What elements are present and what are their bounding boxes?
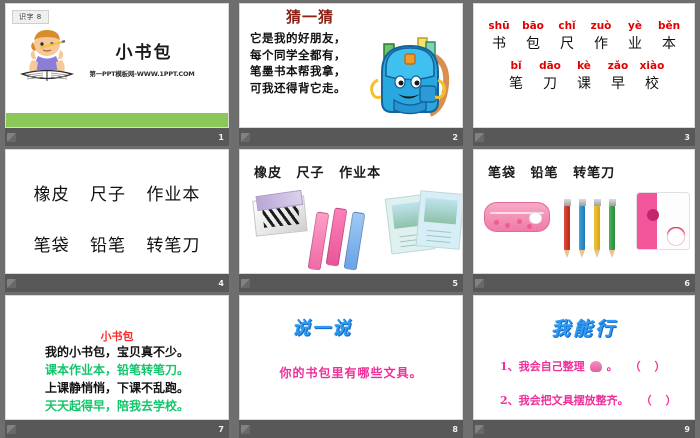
page-title: 小书包 xyxy=(6,38,228,63)
pencil-item xyxy=(579,206,585,250)
poem-title: 小书包 xyxy=(6,328,228,344)
slide-canvas-9[interactable]: 我能行 1、我会自己整理 。 （ ） 2、我会把文具摆放整齐。 （ ） xyxy=(473,295,695,420)
sharpener-crank xyxy=(647,209,659,221)
ruler-item xyxy=(344,211,366,270)
thumbnail-footer-4: 4 xyxy=(5,274,229,292)
pencil-case-photo xyxy=(484,202,550,232)
slide-canvas-8[interactable]: 说一说 你的书包里有哪些文具。 xyxy=(239,295,463,420)
slide-thumbnail-grid: 识字 8 xyxy=(0,0,700,438)
pencil-sharpener-photo xyxy=(636,192,690,250)
thumbnail-footer-7: 7 xyxy=(5,420,229,438)
case-pattern-dot xyxy=(517,219,522,224)
backpack-mini-icon xyxy=(590,361,602,372)
slide-canvas-1[interactable]: 识字 8 xyxy=(5,3,229,128)
slide-thumbnail-6[interactable]: 笔袋 铅笔 转笔刀 xyxy=(468,146,700,292)
word: 铅笔 xyxy=(90,236,126,256)
word: 橡皮 xyxy=(34,185,70,205)
hanzi-cell: 本 xyxy=(652,33,686,53)
hanzi-cell: 书 xyxy=(482,33,516,53)
thumbnail-footer-9: 9 xyxy=(473,420,695,438)
word: 转笔刀 xyxy=(146,236,200,256)
activity-question: 你的书包里有哪些文具。 xyxy=(240,364,462,381)
hanzi-cell: 尺 xyxy=(550,33,584,53)
slide-number: 6 xyxy=(684,279,690,288)
pencil-tip xyxy=(564,250,570,258)
slide-thumbnail-2[interactable]: 猜一猜 它是我的好朋友， 每个同学全都有， 笔墨书本帮我拿， 可我还得背它走。 xyxy=(234,0,468,146)
poem-line: 天天起得早，陪我去学校。 xyxy=(45,398,189,414)
riddle-line: 它是我的好朋友， xyxy=(250,30,346,47)
workbook-item xyxy=(416,190,463,250)
case-pattern-dot xyxy=(505,223,510,228)
slide-number: 5 xyxy=(452,279,458,288)
vocabulary-list: 橡皮 尺子 作业本 笔袋 铅笔 转笔刀 xyxy=(6,180,228,256)
word: 橡皮 xyxy=(254,166,282,181)
word-line-2: 笔袋 铅笔 转笔刀 xyxy=(27,231,208,256)
checklist-suffix: 。 xyxy=(607,358,618,374)
riddle-line: 笔墨书本帮我拿， xyxy=(250,63,346,80)
hanzi-cell: 业 xyxy=(618,33,652,53)
word: 尺子 xyxy=(90,185,126,205)
pinyin-cell: bǐ xyxy=(499,60,533,72)
word: 铅笔 xyxy=(531,166,559,181)
pencils-photo xyxy=(564,206,570,250)
hanzi-cell: 包 xyxy=(516,33,550,53)
poem-line: 课本作业本，铅笔转笔刀。 xyxy=(45,362,189,378)
poem-line: 上课静悄悄，下课不乱跑。 xyxy=(45,380,189,396)
slide-thumbnail-icon xyxy=(7,425,16,434)
pinyin-row-1: shū bāo chǐ zuò yè běn xyxy=(474,20,694,32)
slide-number: 7 xyxy=(218,425,224,434)
row-spacer xyxy=(474,54,694,59)
activity-heading: 我能行 xyxy=(474,314,694,341)
pinyin-cell: xiào xyxy=(635,60,669,72)
slide-heading: 笔袋 铅笔 转笔刀 xyxy=(488,162,624,181)
slide-number: 9 xyxy=(684,425,690,434)
slide-thumbnail-icon xyxy=(241,279,250,288)
guess-heading: 猜一猜 xyxy=(286,6,334,27)
hanzi-cell: 课 xyxy=(567,73,601,93)
case-pattern-dot xyxy=(494,220,499,225)
slide-number: 4 xyxy=(218,279,224,288)
book-cover-art xyxy=(424,198,458,225)
pencil-tip xyxy=(579,250,585,258)
slide-number: 8 xyxy=(452,425,458,434)
blue-backpack-icon xyxy=(364,24,456,124)
slide-thumbnail-icon xyxy=(475,279,484,288)
thumbnail-footer-8: 8 xyxy=(239,420,463,438)
pencil-cap xyxy=(579,199,586,206)
pinyin-cell: běn xyxy=(652,20,686,32)
hanzi-cell: 笔 xyxy=(499,73,533,93)
book-line xyxy=(427,230,451,233)
eraser-photo xyxy=(252,195,307,236)
pinyin-cell: yè xyxy=(618,20,652,32)
case-pattern-dot xyxy=(527,224,532,229)
slide-thumbnail-icon xyxy=(475,425,484,434)
checklist-item: 2、我会把文具摆放整齐。 （ ） xyxy=(500,392,684,408)
slide-thumbnail-3[interactable]: shū bāo chǐ zuò yè běn 书 包 尺 作 业 本 xyxy=(468,0,700,146)
poem-body: 我的小书包，宝贝真不少。 课本作业本，铅笔转笔刀。 上课静悄悄，下课不乱跑。 天… xyxy=(6,344,228,414)
hanzi-row-2: 笔 刀 课 早 校 xyxy=(474,73,694,93)
slide-thumbnail-icon xyxy=(7,279,16,288)
green-accent-bar xyxy=(6,113,228,127)
checklist-box: （ ） xyxy=(630,358,671,374)
hello-kitty-icon xyxy=(529,212,542,224)
pinyin-chart: shū bāo chǐ zuò yè běn 书 包 尺 作 业 本 xyxy=(474,20,694,93)
pinyin-cell: zǎo xyxy=(601,60,635,72)
hanzi-cell: 校 xyxy=(635,73,669,93)
riddle-line: 可我还得背它走。 xyxy=(250,80,346,97)
slide-canvas-6[interactable]: 笔袋 铅笔 转笔刀 xyxy=(473,149,695,274)
pinyin-cell: zuò xyxy=(584,20,618,32)
slide-thumbnail-icon xyxy=(241,133,250,142)
slide-thumbnail-icon xyxy=(475,133,484,142)
pinyin-cell: dāo xyxy=(533,60,567,72)
pencil-tip xyxy=(609,250,615,258)
pencil-cap xyxy=(594,199,601,206)
hanzi-row-1: 书 包 尺 作 业 本 xyxy=(474,33,694,53)
pinyin-cell: kè xyxy=(567,60,601,72)
checklist-text: 2、我会把文具摆放整齐。 xyxy=(500,392,629,408)
checklist: 1、我会自己整理 。 （ ） 2、我会把文具摆放整齐。 （ ） xyxy=(500,358,684,408)
hanzi-cell: 刀 xyxy=(533,73,567,93)
slide-thumbnail-icon xyxy=(241,425,250,434)
pencil-cap xyxy=(564,199,571,206)
mascot-face xyxy=(667,228,685,246)
checklist-text: 1、我会自己整理 xyxy=(500,358,585,374)
watermark-text: 第一PPT模板网-WWW.1PPT.COM xyxy=(6,68,228,78)
hanzi-cell: 早 xyxy=(601,73,635,93)
slide-canvas-3[interactable]: shū bāo chǐ zuò yè běn 书 包 尺 作 业 本 xyxy=(473,3,695,128)
riddle-line: 每个同学全都有， xyxy=(250,47,346,64)
book-line xyxy=(427,235,451,238)
thumbnail-footer-5: 5 xyxy=(239,274,463,292)
slide-canvas-7[interactable]: 小书包 我的小书包，宝贝真不少。 课本作业本，铅笔转笔刀。 上课静悄悄，下课不乱… xyxy=(5,295,229,420)
thumbnail-footer-1: 1 xyxy=(5,128,229,146)
slide-thumbnail-7[interactable]: 小书包 我的小书包，宝贝真不少。 课本作业本，铅笔转笔刀。 上课静悄悄，下课不乱… xyxy=(0,292,234,438)
riddle-text: 它是我的好朋友， 每个同学全都有， 笔墨书本帮我拿， 可我还得背它走。 xyxy=(250,30,346,96)
lesson-badge: 识字 8 xyxy=(12,10,49,24)
slide-number: 2 xyxy=(452,133,458,142)
word: 作业本 xyxy=(339,166,381,181)
slide-thumbnail-1[interactable]: 识字 8 xyxy=(0,0,234,146)
slide-number: 1 xyxy=(218,133,224,142)
slide-thumbnail-4[interactable]: 橡皮 尺子 作业本 笔袋 铅笔 转笔刀 4 xyxy=(0,146,234,292)
pinyin-row-2: bǐ dāo kè zǎo xiào xyxy=(474,60,694,72)
thumbnail-footer-2: 2 xyxy=(239,128,463,146)
checklist-item: 1、我会自己整理 。 （ ） xyxy=(500,358,684,374)
word: 笔袋 xyxy=(34,236,70,256)
activity-heading: 说一说 xyxy=(292,314,352,340)
slide-thumbnail-icon xyxy=(7,133,16,142)
pinyin-cell: chǐ xyxy=(550,20,584,32)
pencil-item xyxy=(609,206,615,250)
slide-number: 3 xyxy=(684,133,690,142)
word: 作业本 xyxy=(146,185,200,205)
thumbnail-footer-3: 3 xyxy=(473,128,695,146)
slide-thumbnail-9[interactable]: 我能行 1、我会自己整理 。 （ ） 2、我会把文具摆放整齐。 （ ） 9 xyxy=(468,292,700,438)
word: 尺子 xyxy=(297,166,325,181)
pencil-cap xyxy=(609,199,616,206)
slide-canvas-4[interactable]: 橡皮 尺子 作业本 笔袋 铅笔 转笔刀 xyxy=(5,149,229,274)
word: 转笔刀 xyxy=(573,166,615,181)
pinyin-cell: shū xyxy=(482,20,516,32)
slide-canvas-5[interactable]: 橡皮 尺子 作业本 xyxy=(239,149,463,274)
pencil-item xyxy=(594,206,600,250)
slide-canvas-2[interactable]: 猜一猜 它是我的好朋友， 每个同学全都有， 笔墨书本帮我拿， 可我还得背它走。 xyxy=(239,3,463,128)
slide-thumbnail-8[interactable]: 说一说 你的书包里有哪些文具。 8 xyxy=(234,292,468,438)
word-line-1: 橡皮 尺子 作业本 xyxy=(27,180,208,205)
poem-line: 我的小书包，宝贝真不少。 xyxy=(45,344,189,360)
pinyin-cell: bāo xyxy=(516,20,550,32)
thumbnail-footer-6: 6 xyxy=(473,274,695,292)
word: 笔袋 xyxy=(488,166,516,181)
slide-heading: 橡皮 尺子 作业本 xyxy=(254,162,390,181)
book-line xyxy=(426,240,450,243)
slide-thumbnail-5[interactable]: 橡皮 尺子 作业本 xyxy=(234,146,468,292)
pencil-tip xyxy=(594,250,600,258)
checklist-box: （ ） xyxy=(641,392,682,408)
hanzi-cell: 作 xyxy=(584,33,618,53)
